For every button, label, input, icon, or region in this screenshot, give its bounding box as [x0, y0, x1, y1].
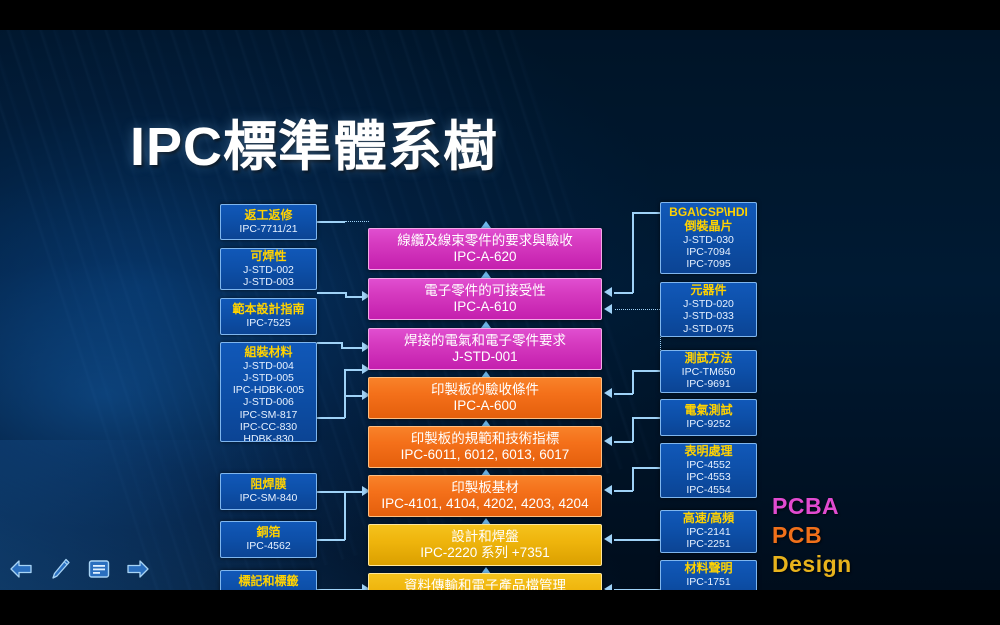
- node-heading: 線纜及線束零件的要求與驗收: [397, 233, 573, 249]
- arrow-center-3: [481, 321, 491, 328]
- node-heading: 印製板基材: [451, 480, 519, 496]
- node-heading: 材料聲明: [684, 562, 732, 576]
- node-code: IPC-7095: [686, 258, 730, 270]
- node-pcb-acceptability[interactable]: 印製板的驗收條件 IPC-A-600: [368, 377, 602, 419]
- node-code: IPC-9252: [686, 418, 730, 430]
- slide-canvas: IPC標準體系樹: [0, 30, 1000, 590]
- node-code: IPC-4552: [686, 459, 730, 471]
- node-code: J-STD-003: [243, 276, 294, 288]
- node-heading: 可焊性: [250, 250, 286, 264]
- node-heading: 標記和標籤: [238, 575, 298, 589]
- node-code: J-STD-001: [452, 349, 517, 365]
- arrow-right-1: [604, 287, 612, 297]
- arrow-right-3: [604, 388, 612, 398]
- node-code: IPC-7525: [246, 317, 290, 329]
- node-heading: 印製板的規範和技術指標: [411, 431, 560, 447]
- connector-right-6-h: [614, 539, 660, 541]
- node-code: J-STD-020: [683, 298, 734, 310]
- node-solder-mask[interactable]: 阻焊膜 IPC-SM-840: [220, 473, 317, 510]
- node-soldered-requirements[interactable]: 焊接的電氣和電子零件要求 J-STD-001: [368, 328, 602, 370]
- node-rework-repair[interactable]: 返工返修 IPC-7711/21: [220, 204, 317, 240]
- connector-right-4-h2: [614, 441, 633, 443]
- arrow-center-2: [481, 271, 491, 278]
- node-marking-labeling[interactable]: 標記和標籤 J-STD-609: [220, 570, 317, 590]
- mark-pcba: PCBA: [772, 493, 839, 520]
- node-heading: 焊接的電氣和電子零件要求: [404, 333, 566, 349]
- pen-icon: [49, 557, 71, 581]
- previous-slide-button[interactable]: [8, 556, 34, 582]
- node-code: J-STD-033: [683, 310, 734, 322]
- mark-pcb: PCB: [772, 522, 822, 549]
- notes-button[interactable]: [86, 556, 112, 582]
- connector-right-4-h: [632, 417, 660, 419]
- connector-left-1-dot: [345, 221, 369, 222]
- node-design-guide[interactable]: 範本設計指南 IPC-7525: [220, 298, 317, 335]
- node-code: IPC-SM-840: [240, 492, 298, 504]
- connector-left-6-h: [317, 539, 345, 541]
- node-code: IPC-4554: [686, 484, 730, 496]
- notes-icon: [87, 558, 111, 580]
- node-code: IPC-9691: [686, 378, 730, 390]
- node-electrical-test[interactable]: 電氣測試 IPC-9252: [660, 399, 757, 436]
- page-title: IPC標準體系樹: [130, 102, 498, 181]
- node-test-methods[interactable]: 測試方法 IPC-TM650 IPC-9691: [660, 350, 757, 393]
- node-heading: 範本設計指南: [232, 303, 304, 317]
- node-electronic-assembly[interactable]: 電子零件的可接受性 IPC-A-610: [368, 278, 602, 320]
- node-data-transfer[interactable]: 資料傳輸和電子產品檔管理 IPC-2581系列, IPC2610系列: [368, 573, 602, 590]
- node-high-speed[interactable]: 高速/高頻 IPC-2141 IPC-2251: [660, 510, 757, 553]
- node-code: IPC-2251: [686, 538, 730, 550]
- node-code: J-STD-004: [243, 360, 294, 372]
- node-heading: 高速/高頻: [683, 512, 734, 526]
- node-code: IPC-A-620: [453, 249, 516, 265]
- connector-right-3-h: [632, 370, 660, 372]
- connector-right-1-h2: [614, 292, 633, 294]
- pen-tool-button[interactable]: [47, 556, 73, 582]
- node-code: IPC-TM650: [682, 366, 736, 378]
- node-heading: 返工返修: [244, 209, 292, 223]
- node-code: IPC-1751: [686, 576, 730, 588]
- node-heading: 測試方法: [684, 352, 732, 366]
- node-heading: 資料傳輸和電子產品檔管理: [404, 578, 566, 590]
- node-code: J-STD-002: [243, 264, 294, 276]
- node-components[interactable]: 元器件 J-STD-020 J-STD-033 J-STD-075: [660, 282, 757, 337]
- mark-design: Design: [772, 551, 852, 578]
- connector-left-4-h: [317, 417, 345, 419]
- node-code: IPC-4562: [246, 540, 290, 552]
- node-copper-foil[interactable]: 銅箔 IPC-4562: [220, 521, 317, 558]
- arrow-right-5: [604, 485, 612, 495]
- node-code: IPC-A-600: [453, 398, 516, 414]
- node-heading: 電氣測試: [684, 404, 732, 418]
- arrow-left-icon: [9, 559, 33, 579]
- node-solderability[interactable]: 可焊性 J-STD-002 J-STD-003: [220, 248, 317, 290]
- connector-right-5-v: [632, 467, 634, 491]
- arrow-right-6: [604, 534, 612, 544]
- connector-right-2-dot-h: [615, 309, 660, 310]
- node-code: J-STD-030: [683, 234, 734, 246]
- node-pcb-base-material[interactable]: 印製板基材 IPC-4101, 4104, 4202, 4203, 4204: [368, 475, 602, 517]
- connector-left-4-v: [344, 369, 346, 418]
- connector-left-3-h: [317, 342, 343, 344]
- node-code: IPC-HDBK-005: [233, 384, 304, 396]
- node-heading: 設計和焊盤: [451, 529, 519, 545]
- node-code: IPC-CC-830: [240, 421, 297, 433]
- node-code: IPC-4553: [686, 471, 730, 483]
- arrow-center-1: [481, 221, 491, 228]
- letterbox-bottom: [0, 590, 1000, 625]
- node-heading-alt: BGA\CSP\HDI: [669, 206, 748, 220]
- node-pcb-specification[interactable]: 印製板的規範和技術指標 IPC-6011, 6012, 6013, 6017: [368, 426, 602, 468]
- node-heading: 表明處理: [684, 445, 732, 459]
- node-code: J-STD-006: [243, 396, 294, 408]
- node-design-land-pattern[interactable]: 設計和焊盤 IPC-2220 系列 +7351: [368, 524, 602, 566]
- connector-left-1-h: [317, 221, 345, 223]
- node-code: IPC-6011, 6012, 6013, 6017: [401, 447, 570, 463]
- node-code: IPC-7094: [686, 246, 730, 258]
- node-code: IPC-4101, 4104, 4202, 4203, 4204: [381, 496, 588, 512]
- connector-right-3-v: [632, 370, 634, 394]
- node-heading: 組裝材料: [244, 346, 292, 360]
- connector-right-1-h: [632, 212, 660, 214]
- arrow-right-2: [604, 304, 612, 314]
- node-code: IPC-7711/21: [239, 223, 297, 235]
- node-code: J-STD-005: [243, 372, 294, 384]
- node-heading: 電子零件的可接受性: [424, 283, 546, 299]
- next-slide-button[interactable]: [125, 556, 151, 582]
- node-code: J-STD-075: [683, 323, 734, 335]
- node-surface-finish[interactable]: 表明處理 IPC-4552 IPC-4553 IPC-4554: [660, 443, 757, 498]
- node-code: IPC-SM-817: [240, 409, 298, 421]
- arrow-right-4: [604, 436, 612, 446]
- node-material-declaration[interactable]: 材料聲明 IPC-1751 IPC-1752: [660, 560, 757, 590]
- node-heading: 倒裝晶片: [684, 220, 732, 234]
- node-heading: 阻焊膜: [250, 478, 286, 492]
- connector-right-4-v: [632, 417, 634, 442]
- node-heading: 印製板的驗收條件: [431, 382, 539, 398]
- connector-left-6-v: [344, 493, 346, 540]
- slideshow-toolbar: [8, 552, 151, 586]
- node-code: IPC-A-610: [453, 299, 516, 315]
- slide-viewer: IPC標準體系樹: [0, 0, 1000, 625]
- node-code: HDBK-830: [243, 433, 293, 442]
- node-assembly-materials[interactable]: 組裝材料 J-STD-004 J-STD-005 IPC-HDBK-005 J-…: [220, 342, 317, 442]
- connector-right-3-h2: [614, 393, 633, 395]
- letterbox-top: [0, 0, 1000, 30]
- connector-left-2-h: [317, 292, 345, 294]
- arrow-right-icon: [126, 559, 150, 579]
- node-code: IPC-2141: [686, 526, 730, 538]
- node-heading: 元器件: [690, 284, 726, 298]
- node-heading: 銅箔: [256, 526, 280, 540]
- connector-right-5-h: [632, 467, 660, 469]
- node-bga-csp-hdi[interactable]: BGA\CSP\HDI 倒裝晶片 J-STD-030 IPC-7094 IPC-…: [660, 202, 757, 274]
- connector-right-1-v: [632, 212, 634, 293]
- connector-right-5-h2: [614, 490, 633, 492]
- connector-left-5-h: [317, 491, 365, 493]
- node-cable-harness[interactable]: 線纜及線束零件的要求與驗收 IPC-A-620: [368, 228, 602, 270]
- node-code: IPC-2220 系列 +7351: [420, 545, 549, 561]
